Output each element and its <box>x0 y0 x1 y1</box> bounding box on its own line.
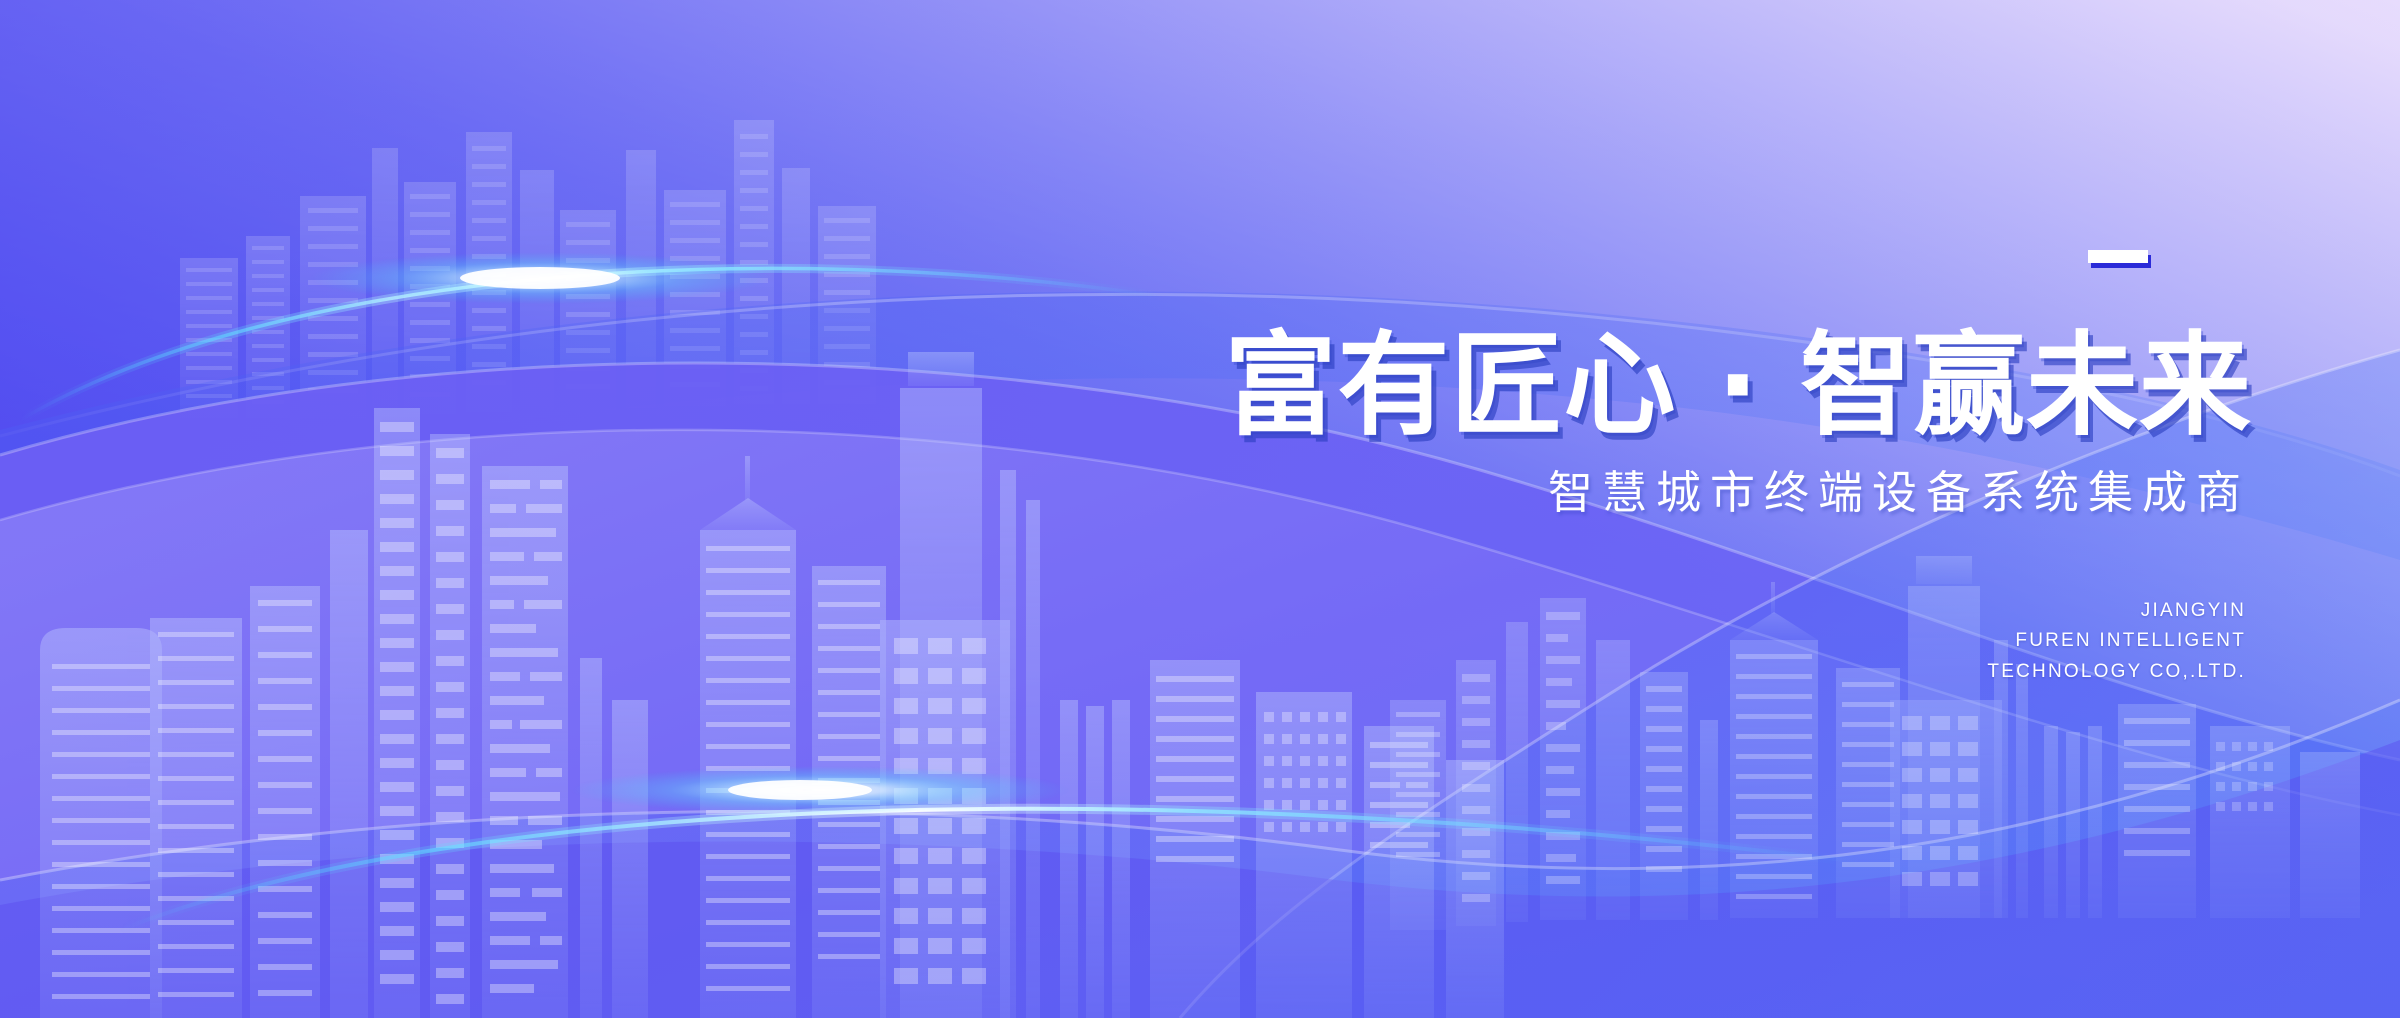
subtitle: 智慧城市终端设备系统集成商 <box>1020 468 2250 518</box>
glow-arc-lower <box>120 766 1860 930</box>
accent-dash-icon <box>2088 250 2148 263</box>
banner-root: 富有匠心 · 智赢未来 智慧城市终端设备系统集成商 JIANGYIN FUREN… <box>0 0 2400 1018</box>
headline-text-block: 富有匠心 · 智赢未来 智慧城市终端设备系统集成商 JIANGYIN FUREN… <box>1020 250 2260 688</box>
glow-arc-upper <box>20 252 1160 420</box>
main-title: 富有匠心 · 智赢未来 <box>1020 330 2252 442</box>
company-name-english: JIANGYIN FUREN INTELLIGENT TECHNOLOGY CO… <box>1020 596 2246 688</box>
company-line-1: JIANGYIN <box>1020 596 2246 627</box>
company-line-3: TECHNOLOGY CO,.LTD. <box>1020 657 2246 688</box>
company-line-2: FUREN INTELLIGENT <box>1020 626 2246 657</box>
